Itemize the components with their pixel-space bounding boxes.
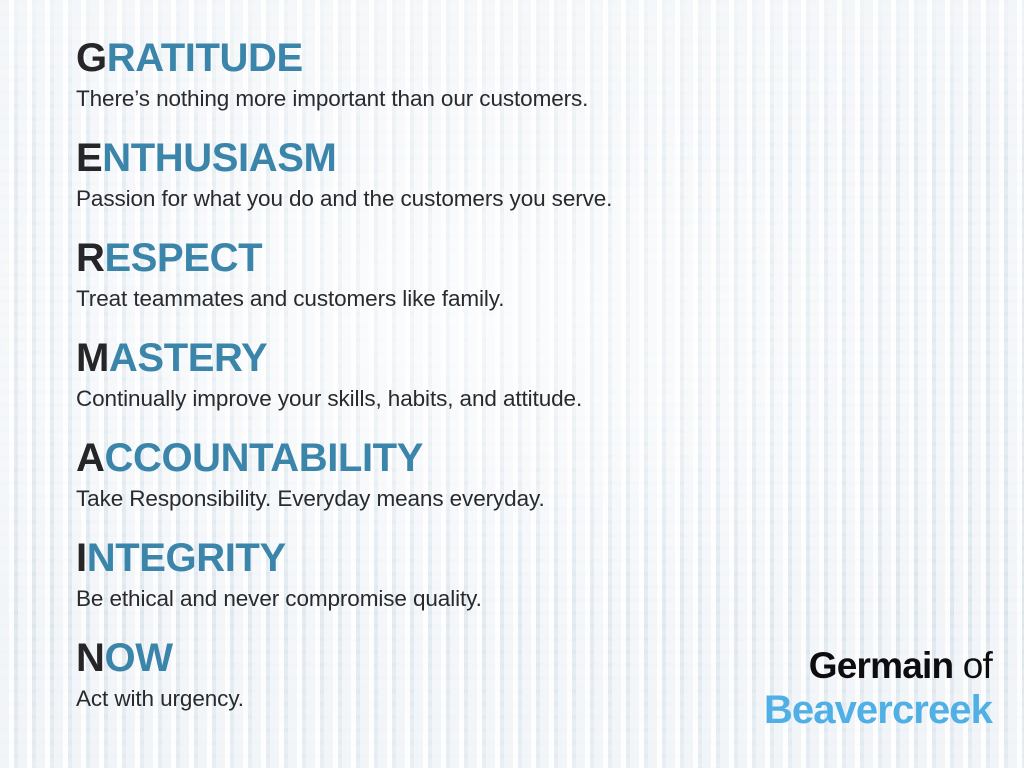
value-block-gratitude: GRATITUDE There’s nothing more important… xyxy=(76,34,1006,134)
brand-logo: Germain of Beavercreek xyxy=(764,645,992,732)
slide-content: GRATITUDE There’s nothing more important… xyxy=(0,0,1024,768)
value-description-mastery: Continually improve your skills, habits,… xyxy=(76,384,1006,414)
value-initial-r: R xyxy=(76,236,105,280)
brand-logo-connector: of xyxy=(953,645,992,686)
value-description-integrity: Be ethical and never compromise quality. xyxy=(76,584,1006,614)
value-initial-g: G xyxy=(76,36,107,80)
value-title-mastery: MASTERY xyxy=(76,334,1006,382)
value-initial-n: N xyxy=(76,636,105,680)
value-block-enthusiasm: ENTHUSIASM Passion for what you do and t… xyxy=(76,134,1006,234)
value-initial-m: M xyxy=(76,336,109,380)
value-description-accountability: Take Responsibility. Everyday means ever… xyxy=(76,484,1006,514)
value-block-respect: RESPECT Treat teammates and customers li… xyxy=(76,234,1006,334)
value-initial-i: I xyxy=(76,536,87,580)
value-title-accountability: ACCOUNTABILITY xyxy=(76,434,1006,482)
value-rest-enthusiasm: NTHUSIASM xyxy=(102,136,336,180)
value-rest-gratitude: RATITUDE xyxy=(107,36,303,80)
value-title-enthusiasm: ENTHUSIASM xyxy=(76,134,1006,182)
value-description-gratitude: There’s nothing more important than our … xyxy=(76,84,1006,114)
value-rest-respect: ESPECT xyxy=(105,236,263,280)
core-values-list: GRATITUDE There’s nothing more important… xyxy=(76,34,1006,734)
value-initial-a: A xyxy=(76,436,105,480)
brand-logo-location: Beavercreek xyxy=(764,688,992,732)
brand-logo-line-top: Germain of xyxy=(764,645,992,687)
value-block-mastery: MASTERY Continually improve your skills,… xyxy=(76,334,1006,434)
value-initial-e: E xyxy=(76,136,102,180)
value-rest-accountability: CCOUNTABILITY xyxy=(105,436,423,480)
brand-logo-name: Germain xyxy=(809,645,954,686)
value-title-integrity: INTEGRITY xyxy=(76,534,1006,582)
value-rest-now: OW xyxy=(105,636,173,680)
value-title-respect: RESPECT xyxy=(76,234,1006,282)
value-description-enthusiasm: Passion for what you do and the customer… xyxy=(76,184,1006,214)
value-rest-mastery: ASTERY xyxy=(109,336,267,380)
value-rest-integrity: NTEGRITY xyxy=(87,536,286,580)
value-description-respect: Treat teammates and customers like famil… xyxy=(76,284,1006,314)
value-title-gratitude: GRATITUDE xyxy=(76,34,1006,82)
slide-canvas: GRATITUDE There’s nothing more important… xyxy=(0,0,1024,768)
value-block-accountability: ACCOUNTABILITY Take Responsibility. Ever… xyxy=(76,434,1006,534)
value-block-integrity: INTEGRITY Be ethical and never compromis… xyxy=(76,534,1006,634)
